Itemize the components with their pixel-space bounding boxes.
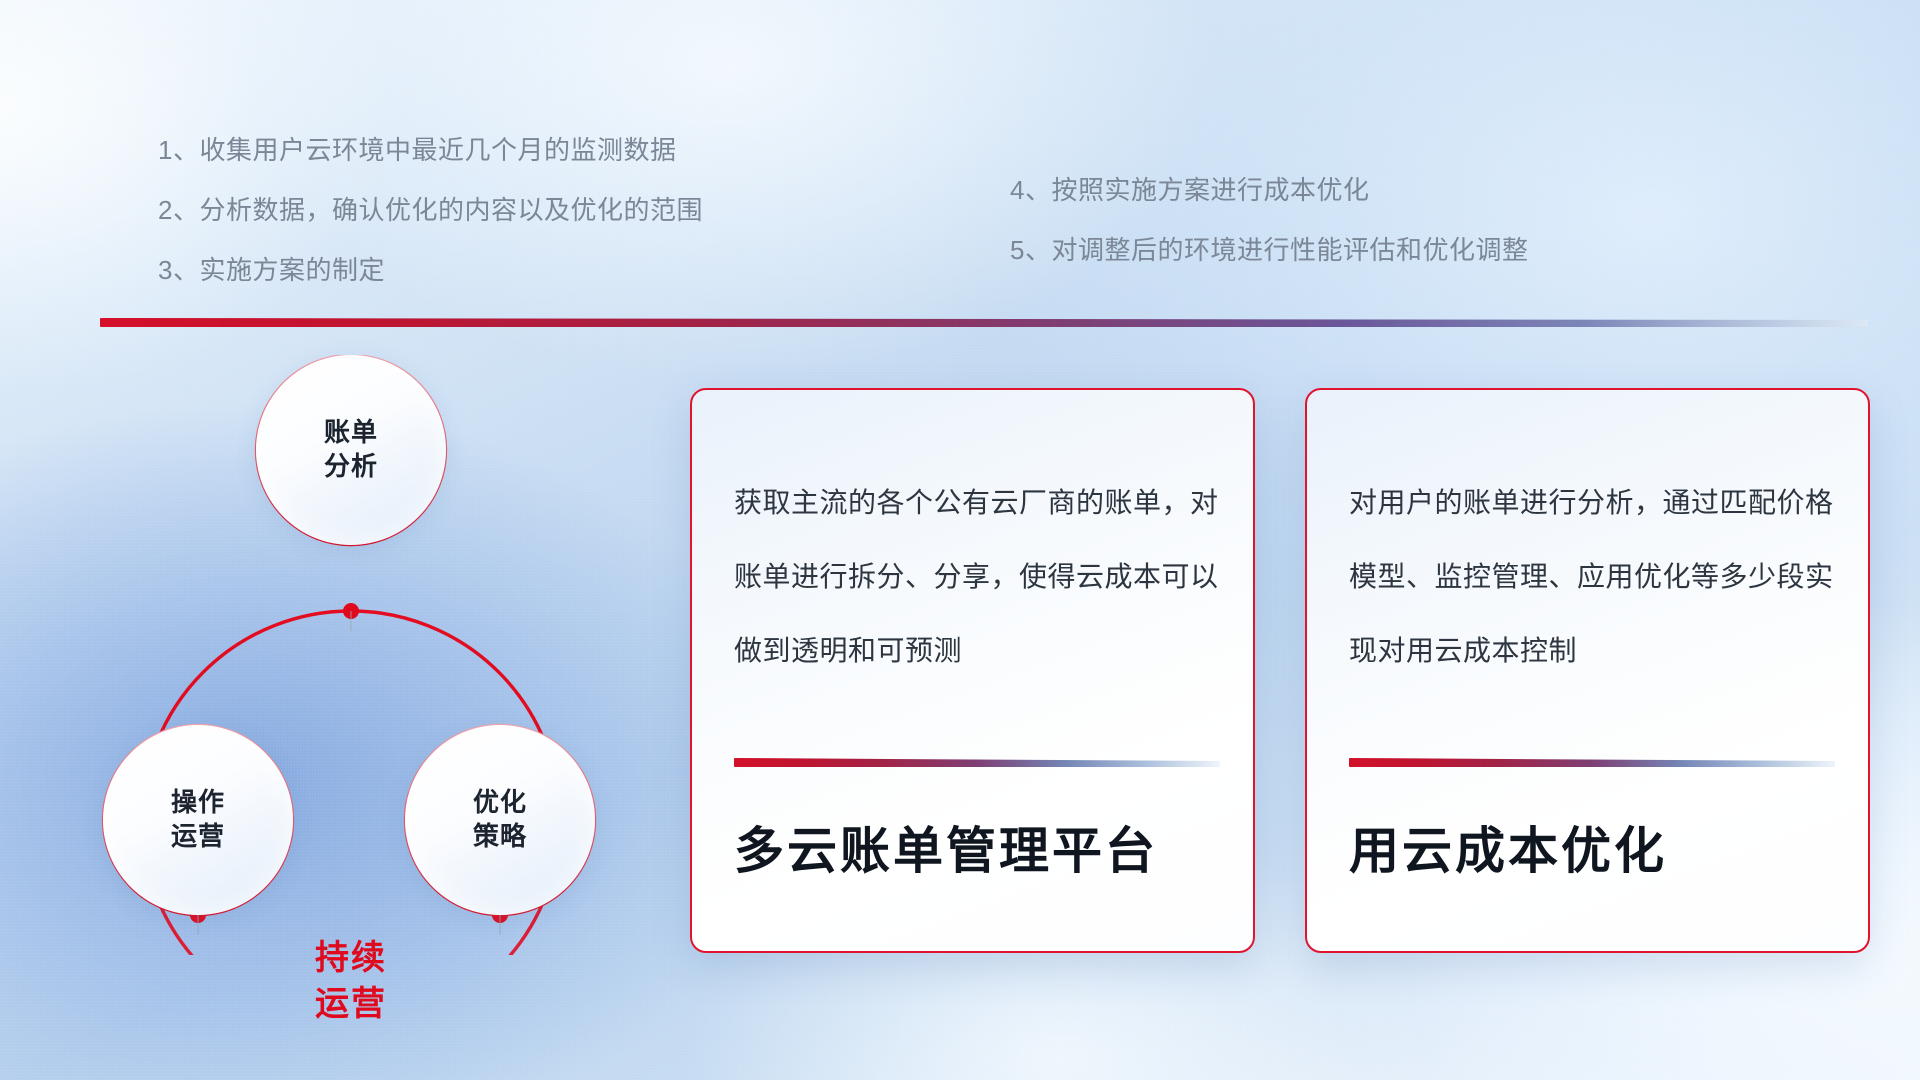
feature-card-title: 用云成本优化 [1349, 820, 1839, 882]
feature-card-divider [734, 758, 1220, 767]
step-item: 3、实施方案的制定 [158, 240, 703, 300]
venn-diagram: 账单 分析 操作 运营 优化 策略 持续 运营 [95, 355, 655, 955]
feature-card-body: 对用户的账单进行分析，通过匹配价格模型、监控管理、应用优化等多少段实现对用云成本… [1349, 466, 1836, 688]
step-item: 4、按照实施方案进行成本优化 [1010, 160, 1528, 220]
venn-node-top-label-line1: 账单 [256, 415, 446, 449]
feature-card[interactable]: 对用户的账单进行分析，通过匹配价格模型、监控管理、应用优化等多少段实现对用云成本… [1305, 388, 1870, 953]
step-item: 5、对调整后的环境进行性能评估和优化调整 [1010, 220, 1528, 280]
step-item: 2、分析数据，确认优化的内容以及优化的范围 [158, 180, 703, 240]
feature-card-divider [1349, 758, 1835, 767]
venn-node-top-label: 账单 分析 [256, 415, 446, 483]
venn-node-br-label-line1: 优化 [405, 785, 595, 819]
steps-section: 1、收集用户云环境中最近几个月的监测数据 2、分析数据，确认优化的内容以及优化的… [0, 0, 1920, 300]
venn-node-bl-label-line2: 运营 [103, 819, 293, 853]
venn-node-top-label-line2: 分析 [256, 449, 446, 483]
steps-right-column: 4、按照实施方案进行成本优化 5、对调整后的环境进行性能评估和优化调整 [1010, 160, 1528, 280]
feature-card-title: 多云账单管理平台 [734, 820, 1224, 882]
venn-center-label: 持续 运营 [245, 935, 457, 1027]
venn-node-bl-label-line1: 操作 [103, 785, 293, 819]
venn-node-bottom-right-label: 优化 策略 [405, 785, 595, 853]
venn-node-br-label-line2: 策略 [405, 819, 595, 853]
steps-left-column: 1、收集用户云环境中最近几个月的监测数据 2、分析数据，确认优化的内容以及优化的… [158, 120, 703, 300]
venn-center-label-line1: 持续 [245, 935, 457, 981]
feature-card[interactable]: 获取主流的各个公有云厂商的账单，对账单进行拆分、分享，使得云成本可以做到透明和可… [690, 388, 1255, 953]
step-item: 1、收集用户云环境中最近几个月的监测数据 [158, 120, 703, 180]
feature-card-body: 获取主流的各个公有云厂商的账单，对账单进行拆分、分享，使得云成本可以做到透明和可… [734, 466, 1221, 688]
venn-node-bottom-left-label: 操作 运营 [103, 785, 293, 853]
venn-center-label-line2: 运营 [245, 981, 457, 1027]
